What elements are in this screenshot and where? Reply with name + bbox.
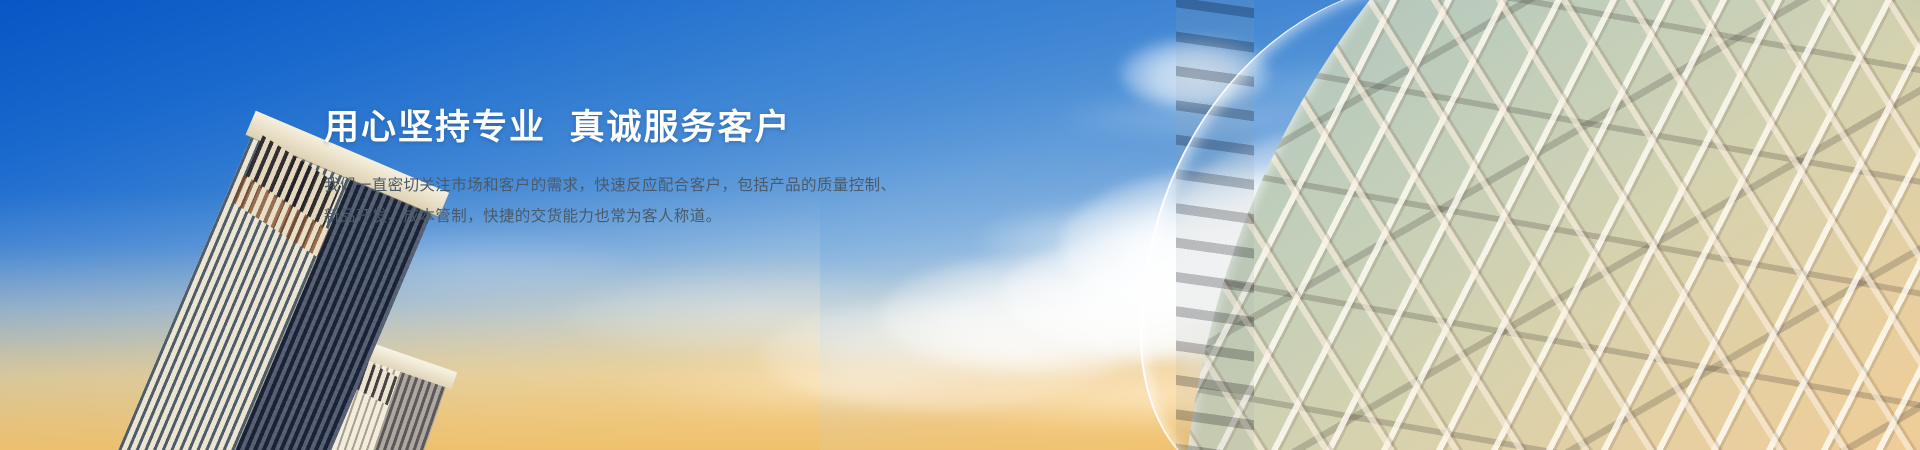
banner-copy-block: 用心坚持专业 真诚服务客户 我们一直密切关注市场和客户的需求，快速反应配合客户，… <box>324 106 984 232</box>
corporate-hero-banner: 用心坚持专业 真诚服务客户 我们一直密切关注市场和客户的需求，快速反应配合客户，… <box>0 0 1920 450</box>
banner-subtitle: 我们一直密切关注市场和客户的需求，快速反应配合客户，包括产品的质量控制、 新品开… <box>324 170 984 232</box>
facade-mullion-grid <box>1180 0 1920 450</box>
banner-headline: 用心坚持专业 真诚服务客户 <box>324 106 984 150</box>
glass-facade <box>1180 0 1920 450</box>
banner-subtitle-line: 新品开发、成本管制，快捷的交货能力也常为客人称道。 <box>324 201 984 232</box>
facade-edge-window-band <box>1176 0 1254 450</box>
banner-subtitle-line: 我们一直密切关注市场和客户的需求，快速反应配合客户，包括产品的质量控制、 <box>324 170 984 201</box>
curved-glass-skyscraper <box>1140 0 1920 450</box>
